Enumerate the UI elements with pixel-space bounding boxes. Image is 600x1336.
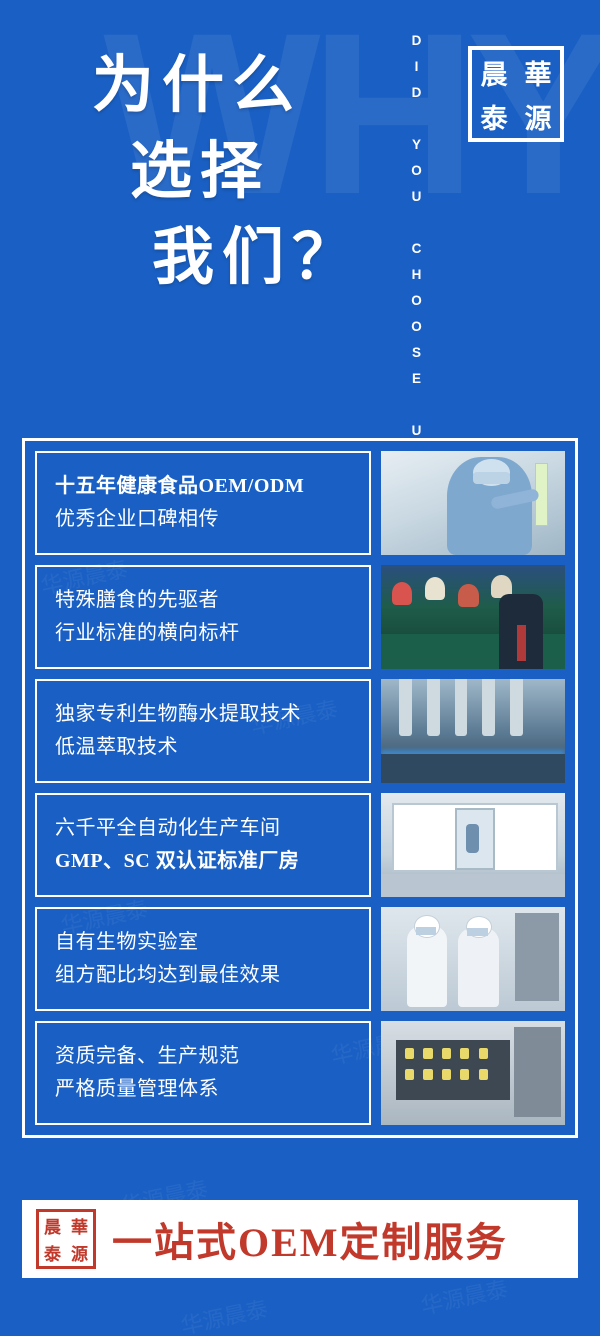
list-item-line-1: 自有生物实验室 [55,926,369,959]
footer-seal-char-1: 華 [66,1212,93,1239]
benefits-list: 十五年健康食品OEM/ODM 优秀企业口碑相传 特殊膳食的先驱者 行业标准的横向… [22,438,578,1138]
list-item-line-1: 独家专利生物酶水提取技术 [55,698,369,731]
footer-banner: 晨 華 泰 源 一站式OEM定制服务 [22,1200,578,1278]
cleanroom-workshop-photo [381,793,565,897]
vertical-char: D [404,80,430,106]
vertical-char: O [404,158,430,184]
packaging-blister-photo [381,1021,565,1125]
vertical-char: H [404,262,430,288]
list-item-line-1: 资质完备、生产规范 [55,1040,369,1073]
list-item-text: 六千平全自动化生产车间 GMP、SC 双认证标准厂房 [35,793,371,897]
vertical-char [404,106,430,132]
vertical-char: Y [404,132,430,158]
brand-watermark-tile: 华源晨泰 [178,1291,271,1336]
list-item: 自有生物实验室 组方配比均达到最佳效果 [35,907,565,1011]
list-item-line-1: 特殊膳食的先驱者 [55,584,369,617]
vertical-char [404,392,430,418]
seal-char-4: 泰 [472,94,516,138]
list-item-text: 十五年健康食品OEM/ODM 优秀企业口碑相传 [35,451,371,555]
list-item-line-2: 组方配比均达到最佳效果 [55,959,369,992]
lab-technician-photo [381,451,565,555]
vertical-char: C [404,236,430,262]
filling-line-photo [381,679,565,783]
vertical-char: U [404,184,430,210]
footer-slogan: 一站式OEM定制服务 [112,1210,508,1268]
vertical-char: O [404,314,430,340]
vertical-char [404,210,430,236]
brand-watermark-tile: 华源晨泰 [418,1271,511,1321]
footer-seal-logo: 晨 華 泰 源 [36,1209,96,1269]
list-item: 独家专利生物酶水提取技术 低温萃取技术 [35,679,565,783]
conference-meeting-photo [381,565,565,669]
poster-canvas: WHY 华源晨泰 华源晨泰 华源晨泰 华源晨泰 华源晨泰 华源晨泰 华源晨泰 为… [0,0,600,1336]
headline-line-1: 为什么 [92,52,392,120]
list-item-text: 独家专利生物酶水提取技术 低温萃取技术 [35,679,371,783]
vertical-char: O [404,288,430,314]
page-title: 为什么 选择 我们？ [92,52,392,293]
list-item: 资质完备、生产规范 严格质量管理体系 [35,1021,565,1125]
brand-seal-logo: 晨 華 泰 源 [468,46,564,142]
vertical-char: I [404,54,430,80]
list-item: 六千平全自动化生产车间 GMP、SC 双认证标准厂房 [35,793,565,897]
list-item-line-2: 严格质量管理体系 [55,1073,369,1106]
seal-char-1: 華 [516,50,560,94]
footer-seal-char-4: 泰 [39,1239,66,1266]
seal-char-2: 晨 [472,50,516,94]
vertical-char: S [404,340,430,366]
seal-char-3: 源 [516,94,560,138]
list-item-line-2: GMP、SC 双认证标准厂房 [55,845,369,878]
footer-seal-char-3: 源 [66,1239,93,1266]
list-item: 十五年健康食品OEM/ODM 优秀企业口碑相传 [35,451,565,555]
list-item-line-1: 六千平全自动化生产车间 [55,812,369,845]
list-item-line-2: 行业标准的横向标杆 [55,617,369,650]
list-item: 特殊膳食的先驱者 行业标准的横向标杆 [35,565,565,669]
list-item-line-2: 低温萃取技术 [55,731,369,764]
biology-lab-photo [381,907,565,1011]
list-item-text: 资质完备、生产规范 严格质量管理体系 [35,1021,371,1125]
vertical-char: E [404,366,430,392]
footer-seal-char-2: 晨 [39,1212,66,1239]
vertical-english-caption: D I D Y O U C H O O S E U S [404,28,430,470]
vertical-char: D [404,28,430,54]
list-item-line-2: 优秀企业口碑相传 [55,503,369,536]
list-item-line-1: 十五年健康食品OEM/ODM [55,470,369,503]
list-item-text: 自有生物实验室 组方配比均达到最佳效果 [35,907,371,1011]
headline-line-3: 我们？ [152,224,392,292]
list-item-text: 特殊膳食的先驱者 行业标准的横向标杆 [35,565,371,669]
poster-header: 为什么 选择 我们？ D I D Y O U C H O O S E U S 晨… [0,0,600,430]
headline-line-2: 选择 [130,138,392,206]
